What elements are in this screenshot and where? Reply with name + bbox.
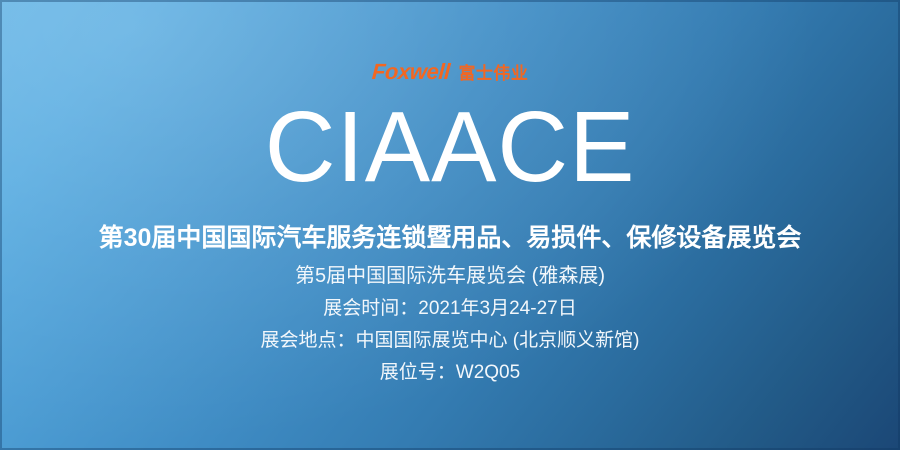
event-subheadline: 第5届中国国际洗车展览会 (雅森展) <box>295 264 605 288</box>
ciaace-promo-banner: Foxwell 富士伟业 CIAACE 第30届中国国际汽车服务连锁暨用品、易损… <box>0 0 900 450</box>
banner-content: Foxwell 富士伟业 CIAACE 第30届中国国际汽车服务连锁暨用品、易损… <box>0 0 900 450</box>
event-date-line: 展会时间：2021年3月24-27日 <box>323 297 576 320</box>
foxwell-wordmark-latin: Foxwell <box>371 61 450 83</box>
event-headline: 第30届中国国际汽车服务连锁暨用品、易损件、保修设备展览会 <box>99 223 802 253</box>
ciaace-wordmark: CIAACE <box>265 97 636 197</box>
foxwell-wordmark-chinese: 富士伟业 <box>458 65 528 82</box>
event-booth-line: 展位号：W2Q05 <box>380 361 520 384</box>
event-venue-line: 展会地点：中国国际展览中心 (北京顺义新馆) <box>261 329 640 352</box>
foxwell-logo: Foxwell 富士伟业 <box>372 61 529 85</box>
